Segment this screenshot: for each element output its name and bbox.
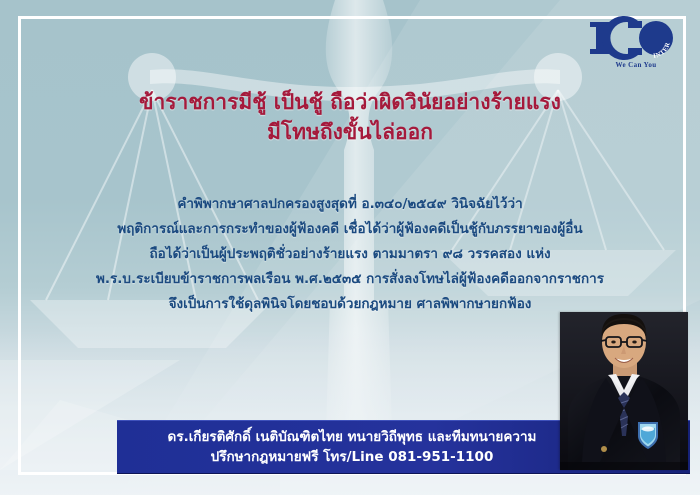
footer-text: ดร.เกียรติศักดิ์ เนติบัณฑิตไทย ทนายวิถีพ… [117,427,587,468]
ico-inter-law-logo: INTER LAW We Can You [584,14,688,74]
footer-line-1: ดร.เกียรติศักดิ์ เนติบัณฑิตไทย ทนายวิถีพ… [117,427,587,447]
logo-mark-icon: INTER LAW [584,14,688,60]
headline-line-2: มีโทษถึงขั้นไล่ออก [0,118,700,148]
lawyer-portrait-image [560,312,688,470]
footer-line-2: ปรึกษากฎหมายฟรี โทร/Line 081-951-1100 [117,447,587,467]
logo-tagline: We Can You [584,61,688,69]
body-line-4: พ.ร.บ.ระเบียบข้าราชการพลเรือน พ.ศ.๒๕๓๕ ก… [0,267,700,292]
body-paragraph: คำพิพากษาศาลปกครองสูงสุดที่ อ.๓๔๐/๒๕๔๙ ว… [0,192,700,317]
body-line-3: ถือได้ว่าเป็นผู้ประพฤติชั่วอย่างร้ายแรง … [0,242,700,267]
body-line-1: คำพิพากษาศาลปกครองสูงสุดที่ อ.๓๔๐/๒๕๔๙ ว… [0,192,700,217]
body-line-2: พฤติการณ์และการกระทำของผู้ฟ้องคดี เชื่อไ… [0,217,700,242]
poster: INTER LAW We Can You ข้าราชการมีชู้ เป็น… [0,0,700,495]
headline: ข้าราชการมีชู้ เป็นชู้ ถือว่าผิดวินัยอย่… [0,88,700,148]
headline-line-1: ข้าราชการมีชู้ เป็นชู้ ถือว่าผิดวินัยอย่… [0,88,700,118]
lawyer-portrait [560,312,688,470]
